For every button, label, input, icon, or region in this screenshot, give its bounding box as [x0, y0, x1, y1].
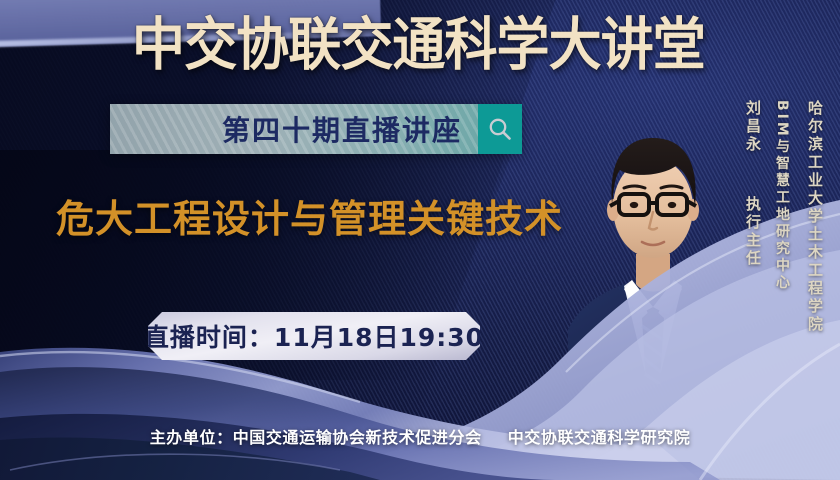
silk-ribbon-decoration [0, 0, 840, 480]
speaker-center-suffix: 与智慧工地研究中心 [774, 139, 790, 292]
webinar-poster: 中交协联交通科学大讲堂 第四十期直播讲座 危大工程设计与管理关键技术 [0, 0, 840, 480]
live-time-label: 直播时间：11月18日19:30 [144, 318, 484, 354]
footer-host: 主办单位：中国交通运输协会新技术促进分会 [150, 428, 482, 447]
speaker-center-acronym: BIM [774, 100, 790, 139]
episode-label: 第四十期直播讲座 [222, 109, 462, 149]
speaker-role: 执行主任 [743, 196, 764, 268]
footer-cohost: 中交协联交通科学研究院 [508, 428, 691, 447]
speaker-name: 刘昌永 [743, 100, 764, 154]
footer-organizers: 主办单位：中国交通运输协会新技术促进分会中交协联交通科学研究院 [0, 424, 840, 448]
speaker-organization: 哈尔滨工业大学土木工程学院 [805, 100, 826, 334]
speaker-center: BIM与智慧工地研究中心 [772, 100, 794, 292]
live-time-pill: 直播时间：11月18日19:30 [148, 312, 480, 360]
